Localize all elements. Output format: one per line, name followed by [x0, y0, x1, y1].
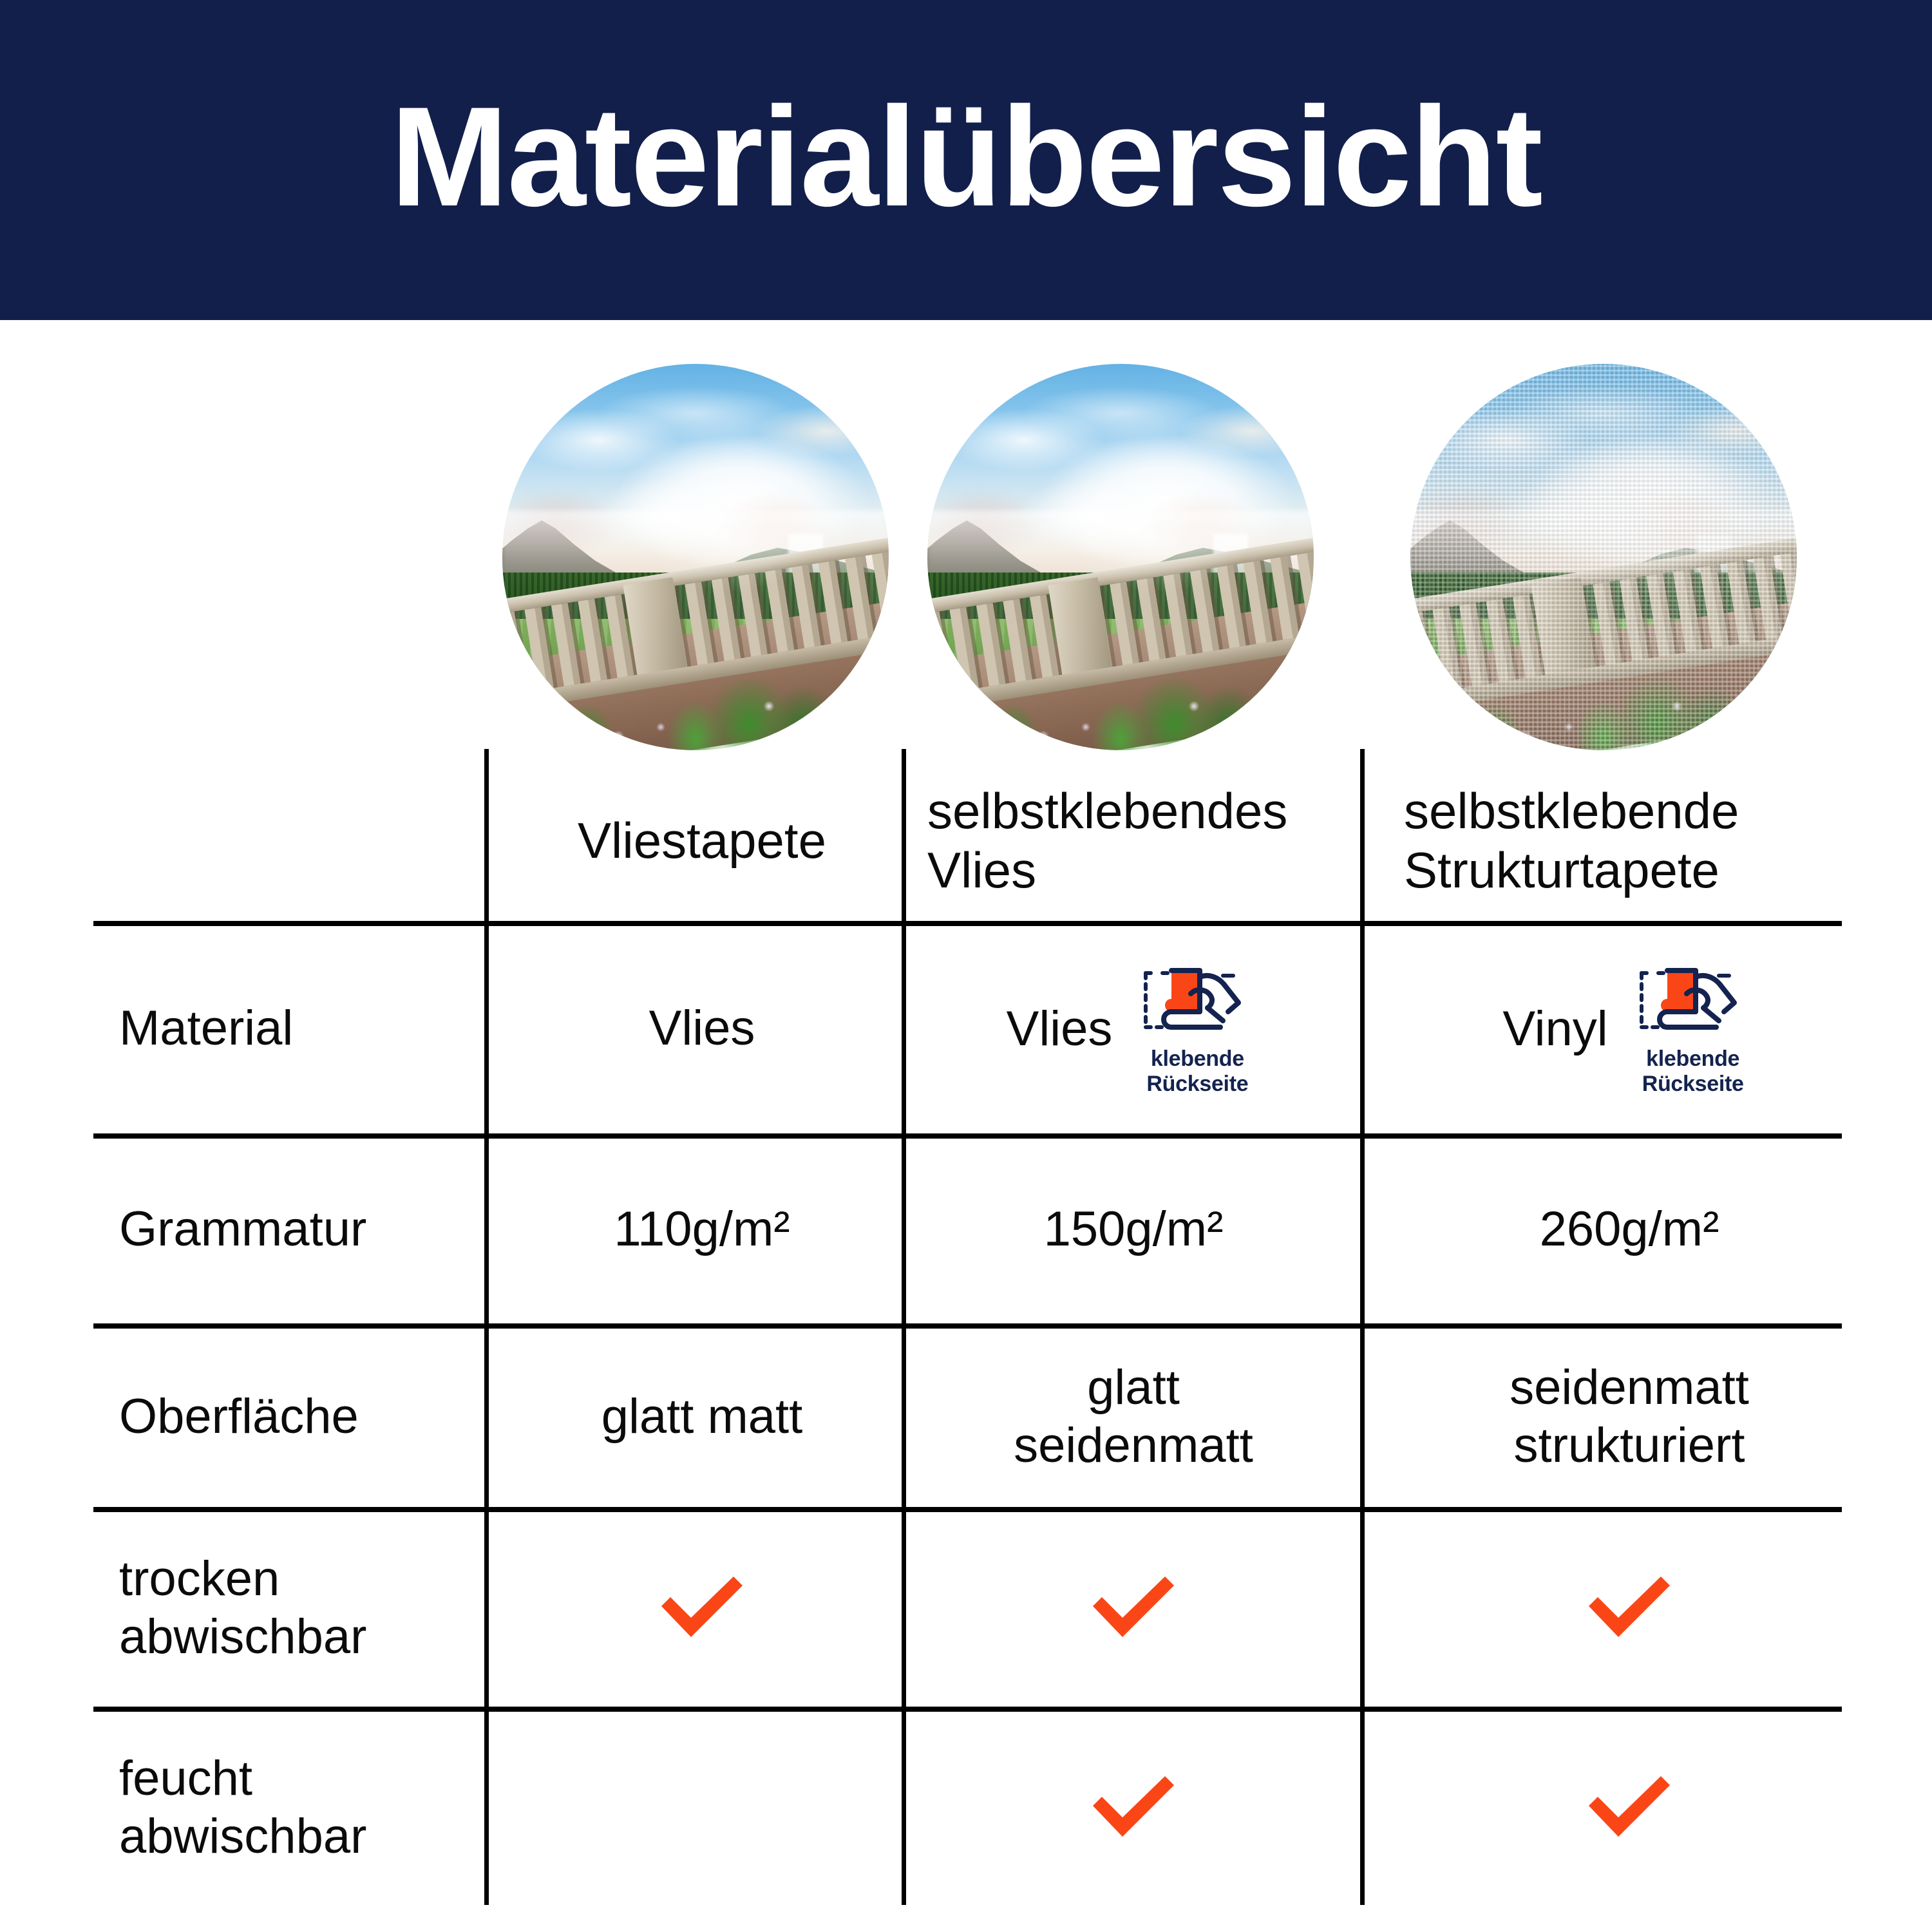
cell-trocken-col1 — [509, 1511, 895, 1705]
cell-feucht-col2 — [927, 1710, 1340, 1905]
comparison-table: Vliestapete selbstklebendes Vlies selbst… — [0, 0, 1932, 1932]
adhesive-back-badge: klebende Rückseite — [1630, 960, 1756, 1097]
row-label-grammatur: Grammatur — [119, 1137, 467, 1321]
material-overview-page: Materialübersicht — [0, 0, 1932, 1932]
peel-sticker-icon — [1141, 960, 1254, 1043]
cell-grammatur-col2: 150g/m² — [927, 1137, 1340, 1321]
cell-material-col1: Vlies — [509, 926, 895, 1131]
cell-feucht-col3 — [1404, 1710, 1855, 1905]
row-label-material: Material — [119, 926, 467, 1131]
row-label-feucht-abwischbar: feucht abwischbar — [119, 1710, 467, 1905]
cell-oberflaeche-col3: seidenmatt strukturiert — [1404, 1327, 1855, 1506]
peel-sticker-icon — [1636, 960, 1750, 1043]
material-value: Vlies — [1007, 1001, 1113, 1057]
column-header-3-label: selbstklebende Strukturtapete — [1404, 781, 1855, 900]
cell-trocken-col3 — [1404, 1511, 1855, 1705]
cell-material-col3: Vinyl — [1404, 926, 1855, 1131]
badge-label: klebende Rückseite — [1642, 1046, 1744, 1097]
adhesive-back-badge: klebende Rückseite — [1134, 960, 1260, 1097]
row-label-oberflaeche: Oberfläche — [119, 1327, 467, 1506]
check-icon — [1581, 1770, 1678, 1846]
cell-trocken-col2 — [927, 1511, 1340, 1705]
row-divider-header — [93, 921, 1842, 926]
check-icon — [1085, 1570, 1182, 1646]
cell-material-col2: Vlies — [927, 926, 1340, 1131]
row-label-trocken-abwischbar: trocken abwischbar — [119, 1511, 467, 1705]
check-icon — [654, 1570, 750, 1646]
column-header-2: selbstklebendes Vlies — [927, 763, 1340, 918]
cell-oberflaeche-col1: glatt matt — [509, 1327, 895, 1506]
cell-feucht-col1 — [509, 1710, 895, 1905]
cell-grammatur-col1: 110g/m² — [509, 1137, 895, 1321]
column-header-3: selbstklebende Strukturtapete — [1404, 763, 1855, 918]
badge-label: klebende Rückseite — [1146, 1046, 1248, 1097]
check-icon — [1581, 1570, 1678, 1646]
column-header-2-label: selbstklebendes Vlies — [927, 781, 1340, 900]
check-icon — [1085, 1770, 1182, 1846]
cell-grammatur-col3: 260g/m² — [1404, 1137, 1855, 1321]
material-value: Vinyl — [1502, 1001, 1607, 1057]
column-header-1: Vliestapete — [509, 763, 895, 918]
cell-oberflaeche-col2: glatt seidenmatt — [927, 1327, 1340, 1506]
